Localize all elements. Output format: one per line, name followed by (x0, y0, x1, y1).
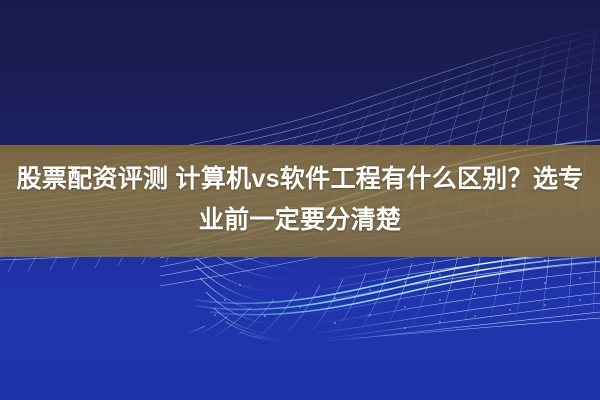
banner-title-container: 股票配资评测 计算机vs软件工程有什么区别？选专业前一定要分清楚 (0, 159, 600, 241)
banner-title: 股票配资评测 计算机vs软件工程有什么区别？选专业前一定要分清楚 (14, 159, 586, 241)
article-header-banner: 股票配资评测 计算机vs软件工程有什么区别？选专业前一定要分清楚 (0, 0, 600, 400)
